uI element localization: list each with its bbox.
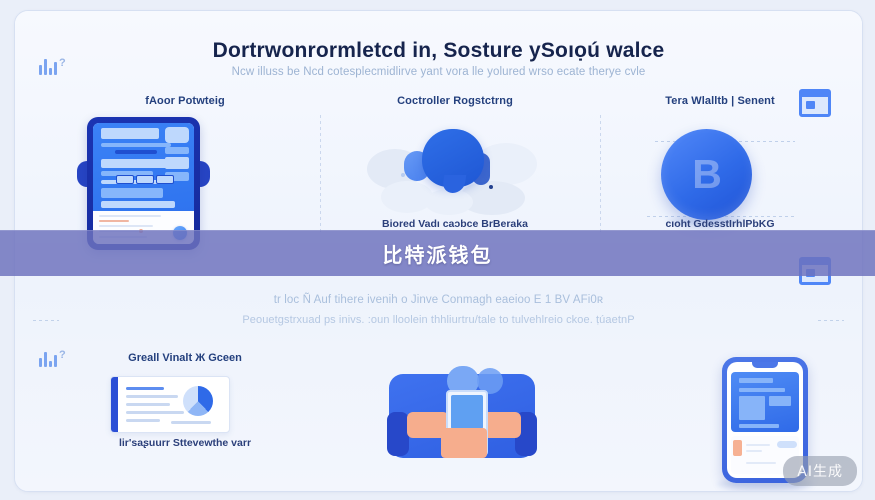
tablet-screen <box>93 123 194 244</box>
top-column-2-caption: Biored Vadı caɔbce BrBeraka <box>335 218 575 230</box>
phone-pill-icon <box>777 441 797 448</box>
page-subtitle: Ncw illuss be Ncd cotesplecmidlirve yant… <box>15 66 862 78</box>
person-phone-illustration <box>389 366 535 464</box>
top-column-2-label: Coctroller Rogstctrng <box>335 95 575 107</box>
person-lap <box>441 428 487 458</box>
page-title: Dortrwonrormletcd in, Sosture ySoıọú wal… <box>15 39 862 63</box>
banner-title: 比特派钱包 <box>383 239 493 268</box>
mid-note-line-2: Peouetgstrxuad ps inivs. :oun lloolein t… <box>15 314 862 326</box>
coin-letter: B <box>661 129 752 220</box>
top-column-2: Coctroller Rogstctrng <box>335 95 575 107</box>
mid-dash-right <box>818 320 844 321</box>
bottom-column-1: Greall Vinalt Ж Gceen <box>55 352 315 364</box>
cloud-blobs-illustration <box>367 123 543 218</box>
phone-notch <box>752 362 778 368</box>
phone-screen-hero <box>731 372 799 432</box>
pie-chart-icon <box>183 386 213 416</box>
top-column-1: fAoor Potwteig <box>55 95 315 107</box>
chart-card-illustration <box>110 376 230 433</box>
ai-generated-badge: AI生成 <box>783 456 857 486</box>
top-column-3: Tera Wlalltb | Senent <box>600 95 840 107</box>
header-left-mark: ? <box>59 57 66 69</box>
bar-chart-icon <box>39 57 57 75</box>
top-column-3-label: Tera Wlalltb | Senent <box>600 95 840 107</box>
top-column-1-label: fAoor Potwteig <box>55 95 315 107</box>
bottom-column-1-label: Greall Vinalt Ж Gceen <box>55 352 315 364</box>
bottom-column-1-caption: lir'saʂuurr Sttevewthe varr <box>55 437 315 449</box>
mid-dash-left <box>33 320 59 321</box>
column-divider-1 <box>320 115 321 235</box>
top-column-3-caption: cıoht GdesstIrhlPbKG <box>600 218 840 230</box>
screenshot-root: Dortrwonrormletcd in, Sosture ySoıọú wal… <box>0 0 875 500</box>
coin-circle-illustration: B <box>661 129 752 220</box>
title-banner: 比特派钱包 <box>0 230 875 276</box>
phone-card-icon <box>733 440 742 456</box>
column-divider-2 <box>600 115 601 235</box>
mid-note-line-1: tr loc Ñ Auf tihere ivenih o Jinve Conma… <box>15 294 862 306</box>
